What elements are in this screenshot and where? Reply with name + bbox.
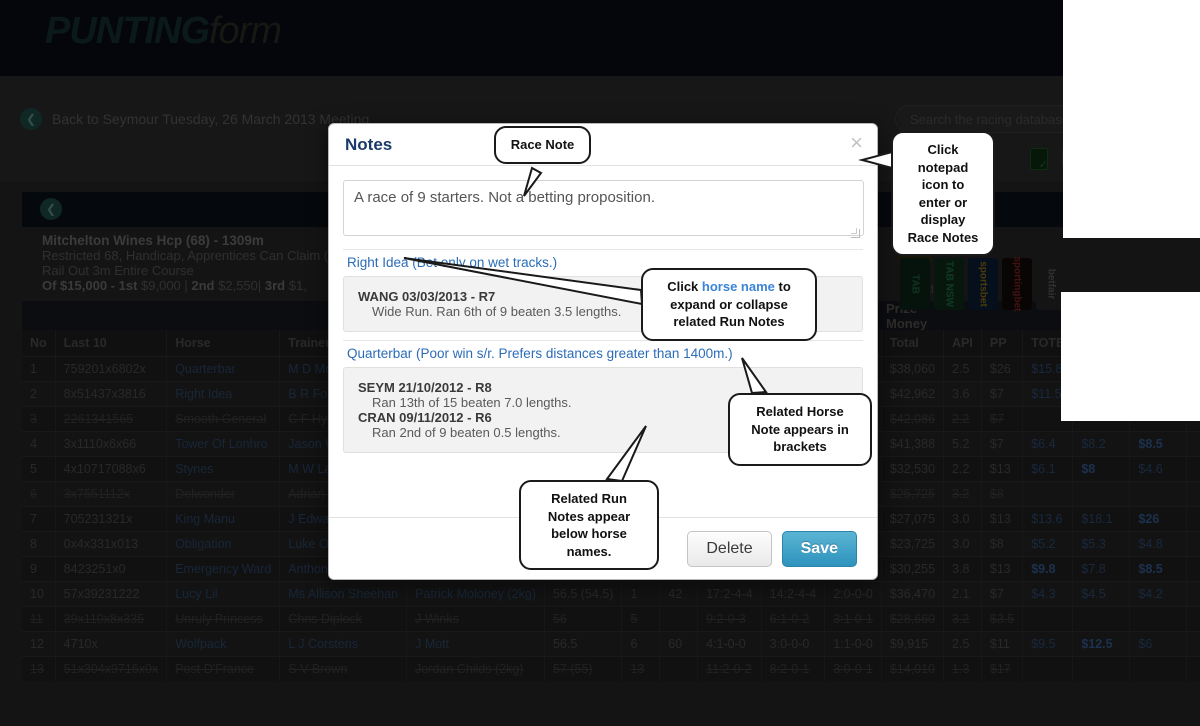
table-cell <box>1130 657 1187 682</box>
table-header-cell[interactable]: API <box>944 330 982 357</box>
table-cell: $7 <box>981 382 1022 407</box>
table-cell: $4.6 <box>1130 457 1187 482</box>
table-header-cell[interactable]: Total <box>881 330 943 357</box>
table-cell: 13 <box>622 657 660 682</box>
table-cell: 2:0-0-0 <box>825 582 882 607</box>
bookmaker-label: TAB <box>910 274 921 294</box>
table-cell: 3.2 <box>944 482 982 507</box>
table-header-cell[interactable]: PP <box>981 330 1022 357</box>
table-cell <box>1073 607 1130 632</box>
table-cell: $17 <box>981 657 1022 682</box>
table-cell: 8423251x0 <box>55 557 167 582</box>
bookmaker-label: TAB NSW <box>944 261 955 307</box>
table-cell: $7 <box>981 407 1022 432</box>
table-cell: $13 <box>981 507 1022 532</box>
table-header-cell[interactable]: Horse <box>167 330 280 357</box>
table-cell: 2.2 <box>944 407 982 432</box>
table-cell: 1.3 <box>944 657 982 682</box>
prize-2nd-value: $2,550| <box>215 278 265 293</box>
table-header-cell[interactable]: Last 10 <box>55 330 167 357</box>
table-cell: 4710x <box>55 632 167 657</box>
table-cell: 3:0-0-0 <box>761 632 825 657</box>
table-cell: 8 <box>22 532 55 557</box>
resize-handle[interactable] <box>851 229 860 238</box>
table-cell: $9,915 <box>881 632 943 657</box>
table-cell: 13 <box>22 657 55 682</box>
table-cell: 60 <box>660 632 698 657</box>
prize-2nd-label: 2nd <box>191 278 214 293</box>
table-cell: 39x110x8x335 <box>55 607 167 632</box>
bookmaker-logo-sportingbet[interactable]: sportingbet <box>1002 258 1032 310</box>
table-cell: $36,470 <box>881 582 943 607</box>
table-cell <box>1187 532 1200 557</box>
table-cell: Right Idea <box>167 382 280 407</box>
table-cell: 2.5 <box>944 357 982 382</box>
table-cell: Ms Allison Sheehan <box>280 582 407 607</box>
table-cell: 1:1-0-0 <box>825 632 882 657</box>
table-cell: 2 <box>22 382 55 407</box>
table-cell <box>1187 582 1200 607</box>
callout-horse-name-highlight: horse name <box>702 279 775 294</box>
table-cell: Tower Of Lonhro <box>167 432 280 457</box>
table-cell: 42 <box>660 582 698 607</box>
table-cell: Emergency Ward <box>167 557 280 582</box>
table-cell: 4 <box>22 432 55 457</box>
table-cell: $18.1 <box>1073 507 1130 532</box>
back-link-label: Back to Seymour Tuesday, 26 March 2013 M… <box>52 111 369 127</box>
table-cell: $6.4 <box>1023 432 1073 457</box>
table-cell <box>1187 657 1200 682</box>
table-cell: 1 <box>22 357 55 382</box>
bookmaker-label: sportsbet <box>978 261 989 307</box>
table-cell: $8.5 <box>1130 432 1187 457</box>
table-cell: Wolfpack <box>167 632 280 657</box>
table-cell <box>1187 632 1200 657</box>
table-row[interactable]: 1351x304x9716x0xPost D'FranceS V BrownJo… <box>22 657 1200 682</box>
table-cell: $7 <box>981 432 1022 457</box>
table-cell: Lucy Lil <box>167 582 280 607</box>
table-cell: 8x51437x3816 <box>55 382 167 407</box>
table-cell: $32,530 <box>881 457 943 482</box>
table-cell: Quarterbar <box>167 357 280 382</box>
table-cell <box>1187 457 1200 482</box>
bookmaker-logo-tabnsw[interactable]: TAB NSW <box>934 258 964 310</box>
table-cell: 759201x6802x <box>55 357 167 382</box>
table-cell: $26 <box>981 357 1022 382</box>
table-cell: 11:2-0-2 <box>698 657 762 682</box>
table-cell <box>1130 607 1187 632</box>
table-cell: Delwonder <box>167 482 280 507</box>
table-cell: $6 <box>1130 632 1187 657</box>
table-cell: 3.0 <box>944 532 982 557</box>
table-cell: 6:1-0-2 <box>761 607 825 632</box>
table-cell: Smooth General <box>167 407 280 432</box>
table-cell: 3 <box>22 407 55 432</box>
table-cell <box>1130 482 1187 507</box>
horse-name-link[interactable]: Quarterbar (Poor win s/r. Prefers distan… <box>343 340 863 367</box>
table-cell: Obligation <box>167 532 280 557</box>
prize-prefix: Of $15,000 - <box>42 278 119 293</box>
table-cell: 14:2-4-4 <box>761 582 825 607</box>
table-cell: 0x4x331x013 <box>55 532 167 557</box>
table-cell: 1 <box>622 582 660 607</box>
table-cell <box>1187 482 1200 507</box>
table-cell: 56.5 <box>544 632 621 657</box>
table-cell: 7 <box>22 507 55 532</box>
table-cell <box>1073 657 1130 682</box>
table-cell: 2.5 <box>944 632 982 657</box>
table-cell: $9.8 <box>1023 557 1073 582</box>
table-cell: 3.2 <box>944 607 982 632</box>
table-cell: 3.8 <box>944 557 982 582</box>
modal-title: Notes <box>345 135 392 155</box>
table-cell: $4.8 <box>1130 532 1187 557</box>
table-cell <box>660 607 698 632</box>
table-cell <box>1187 507 1200 532</box>
bookmaker-label: sportingbet <box>1012 257 1023 312</box>
table-cell <box>1073 482 1130 507</box>
notepad-icon[interactable] <box>1030 148 1048 170</box>
table-cell: $7 <box>981 582 1022 607</box>
table-cell: 5 <box>622 607 660 632</box>
table-cell <box>1023 482 1073 507</box>
table-row[interactable]: 1139x110x8x335Unruly PrincessChris Diplo… <box>22 607 1200 632</box>
table-cell: Post D'France <box>167 657 280 682</box>
table-cell <box>1023 657 1073 682</box>
table-cell: $41,388 <box>881 432 943 457</box>
race-note-field-wrap <box>343 180 863 241</box>
table-header-cell[interactable]: No <box>22 330 55 357</box>
callout-horse-name: Click horse name to expand or collapse r… <box>641 268 817 341</box>
table-cell: $13 <box>981 457 1022 482</box>
table-cell: Patrick Moloney (2kg) <box>407 582 545 607</box>
chevron-left-icon: ❮ <box>20 108 42 130</box>
table-cell: 51x304x9716x0x <box>55 657 167 682</box>
table-cell: $4.5 <box>1073 582 1130 607</box>
bookmaker-logo-sportsbet[interactable]: sportsbet <box>968 258 998 310</box>
table-cell: 56.5 (54.5) <box>544 582 621 607</box>
table-cell: $8 <box>981 482 1022 507</box>
table-cell: 6 <box>622 632 660 657</box>
table-cell: 2.1 <box>944 582 982 607</box>
table-cell: 57x39231222 <box>55 582 167 607</box>
table-cell: 3.0 <box>944 507 982 532</box>
table-cell <box>1023 607 1073 632</box>
bookmaker-label: betfair <box>1046 269 1057 300</box>
brand-light: form <box>209 10 281 52</box>
table-cell: $4.3 <box>1023 582 1073 607</box>
table-cell: $42,962 <box>881 382 943 407</box>
table-cell: 9:2-0-3 <box>698 607 762 632</box>
table-cell: 56 <box>544 607 621 632</box>
table-cell <box>1187 607 1200 632</box>
table-cell: $26 <box>1130 507 1187 532</box>
bookmaker-logo-tab[interactable]: TAB <box>900 258 930 310</box>
table-cell: $5.3 <box>1073 532 1130 557</box>
table-cell: Jordan Childs (2kg) <box>407 657 545 682</box>
table-cell: $3.5 <box>981 607 1022 632</box>
table-cell: 9 <box>22 557 55 582</box>
table-cell: 705231321x <box>55 507 167 532</box>
table-cell: $8.2 <box>1073 432 1130 457</box>
table-cell: $12.5 <box>1073 632 1130 657</box>
table-cell: $13.6 <box>1023 507 1073 532</box>
table-cell: $38,060 <box>881 357 943 382</box>
table-row[interactable]: 1057x39231222Lucy LilMs Allison SheehanP… <box>22 582 1200 607</box>
overlay-panel-mid-right <box>1061 292 1200 421</box>
table-cell: $25,725 <box>881 482 943 507</box>
table-cell: $8 <box>981 532 1022 557</box>
callout-race-note: Race Note <box>494 126 591 164</box>
table-cell <box>660 657 698 682</box>
table-cell <box>1187 432 1200 457</box>
table-cell: $30,255 <box>881 557 943 582</box>
table-row[interactable]: 124710xWolfpackL J CorstensJ Mott56.5660… <box>22 632 1200 657</box>
table-cell: $7.8 <box>1073 557 1130 582</box>
delete-button[interactable]: Delete <box>687 531 771 567</box>
table-cell: $5.2 <box>1023 532 1073 557</box>
table-cell: S V Brown <box>280 657 407 682</box>
table-cell: $9.5 <box>1023 632 1073 657</box>
callout-horse-note: Related Horse Note appears in brackets <box>728 393 872 466</box>
table-cell: 3:0-0-1 <box>825 657 882 682</box>
brand-bold: PUNTING <box>45 10 209 52</box>
save-button[interactable]: Save <box>782 531 857 567</box>
prize-1st-label: 1st <box>119 278 138 293</box>
table-cell: 3:1-0-1 <box>825 607 882 632</box>
overlay-panel-top-right <box>1063 0 1200 238</box>
table-cell: 3.6 <box>944 382 982 407</box>
table-cell: 8:2-0-1 <box>761 657 825 682</box>
table-cell: L J Corstens <box>280 632 407 657</box>
table-cell: 57 (55) <box>544 657 621 682</box>
table-cell: $28,660 <box>881 607 943 632</box>
table-cell: $8 <box>1073 457 1130 482</box>
table-cell: 2261341565 <box>55 407 167 432</box>
table-cell <box>1187 557 1200 582</box>
back-link[interactable]: ❮ Back to Seymour Tuesday, 26 March 2013… <box>20 108 369 130</box>
callout-notepad: Click notepad icon to enter or display R… <box>891 131 995 256</box>
close-icon[interactable]: × <box>850 132 863 154</box>
table-cell: $11 <box>981 632 1022 657</box>
prize-1st-value: $9,000 | <box>137 278 191 293</box>
table-cell: $42,086 <box>881 407 943 432</box>
table-cell: Chris Diplock <box>280 607 407 632</box>
table-cell: $27,075 <box>881 507 943 532</box>
callout-run-notes: Related Run Notes appear below horse nam… <box>519 480 659 570</box>
table-cell: $23,725 <box>881 532 943 557</box>
table-cell: J Mott <box>407 632 545 657</box>
table-cell: J Winks <box>407 607 545 632</box>
race-note-textarea[interactable] <box>343 180 864 236</box>
prize-3rd-label: 3rd <box>265 278 285 293</box>
table-cell: 3x7551112x <box>55 482 167 507</box>
table-cell: 4:1-0-0 <box>698 632 762 657</box>
table-cell: $8.5 <box>1130 557 1187 582</box>
table-cell: 12 <box>22 632 55 657</box>
table-cell: 17:2-4-4 <box>698 582 762 607</box>
table-cell: 10 <box>22 582 55 607</box>
prev-race-icon[interactable]: ❮ <box>40 198 62 220</box>
table-cell: Stynes <box>167 457 280 482</box>
table-cell: King Manu <box>167 507 280 532</box>
prize-3rd-value: $1, <box>285 278 307 293</box>
table-cell: 5.2 <box>944 432 982 457</box>
table-cell: $6.1 <box>1023 457 1073 482</box>
table-cell: Unruly Princess <box>167 607 280 632</box>
table-cell: $4.2 <box>1130 582 1187 607</box>
modal-header: Notes × <box>329 124 877 166</box>
table-cell: 3x1110x6x66 <box>55 432 167 457</box>
table-cell: 5 <box>22 457 55 482</box>
table-cell: 2.2 <box>944 457 982 482</box>
table-cell: 4x10717088x6 <box>55 457 167 482</box>
table-cell: $14,010 <box>881 657 943 682</box>
table-cell: 6 <box>22 482 55 507</box>
top-bar: PUNTINGform <box>0 0 1200 76</box>
table-cell: $13 <box>981 557 1022 582</box>
brand-logo[interactable]: PUNTINGform <box>45 10 281 53</box>
callout-horse-name-pre: Click <box>667 279 702 294</box>
app-root: PUNTINGform ❮ Back to Seymour Tuesday, 2… <box>0 0 1200 726</box>
table-cell: 11 <box>22 607 55 632</box>
